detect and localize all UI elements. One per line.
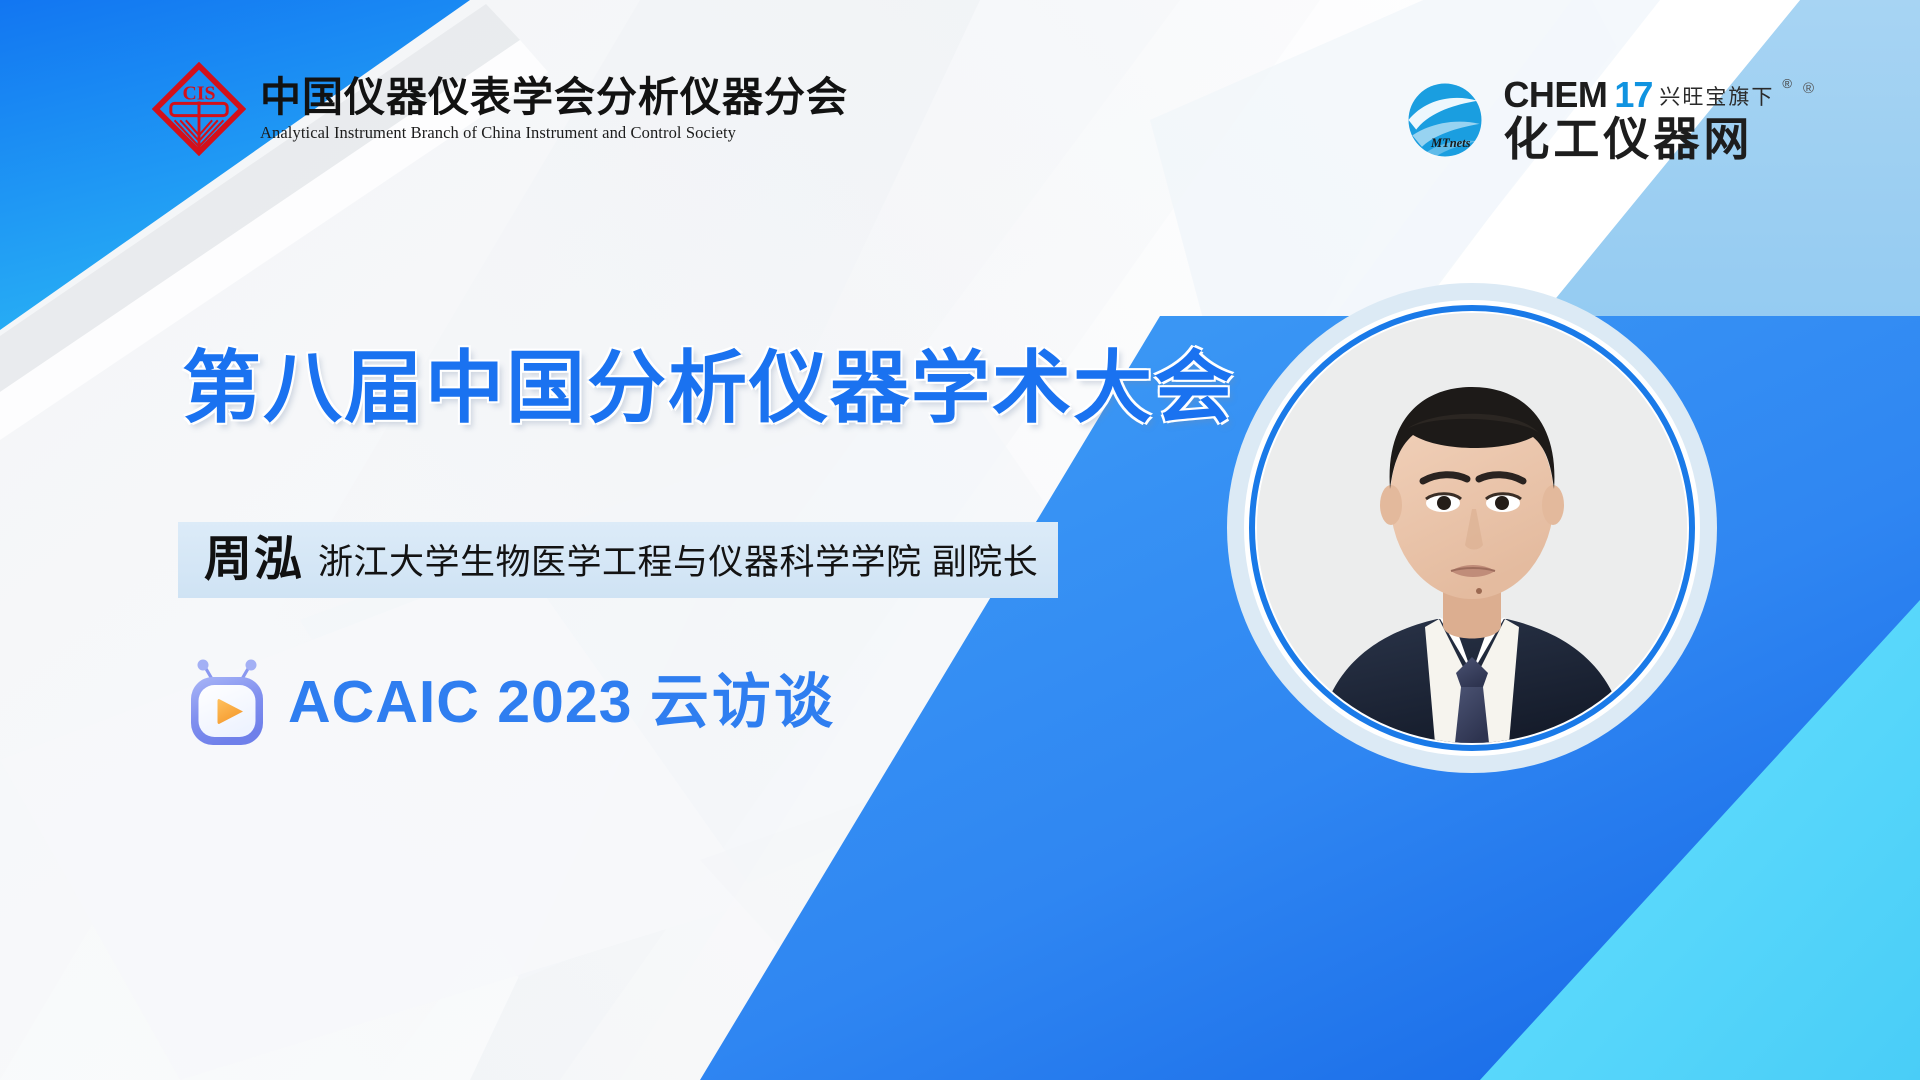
chem17-logo: MTnets CHEM 17 兴旺宝旗下 ® 化工仪器网 ® — [1397, 72, 1792, 168]
registered-mark-outer-icon: ® — [1803, 80, 1814, 97]
cis-logo-text: 中国仪器仪表学会分析仪器分会 Analytical Instrument Bra… — [260, 75, 848, 143]
cis-name-cn: 中国仪器仪表学会分析仪器分会 — [260, 75, 848, 120]
mtnets-label: MTnets — [1430, 136, 1471, 150]
program-code-cn: 云访谈 — [650, 669, 836, 735]
cis-diamond-icon: CIS — [152, 62, 246, 156]
chem17-brand-sub: 兴旺宝旗下 — [1659, 84, 1774, 113]
program-label: ACAIC 2023 云访谈 — [288, 673, 836, 732]
cis-logo: CIS 中国仪器仪表学会分析仪器分会 Analytical Instrument… — [152, 62, 848, 156]
speaker-name-badge: 周泓 浙江大学生物医学工程与仪器科学学院 副院长 — [178, 522, 1058, 598]
speaker-portrait — [1227, 283, 1717, 773]
chem17-brand-row: CHEM 17 兴旺宝旗下 ® — [1503, 77, 1792, 113]
chem17-brand-cn: 化工仪器网 — [1503, 115, 1792, 163]
chem17-logo-text: CHEM 17 兴旺宝旗下 ® 化工仪器网 — [1503, 77, 1792, 163]
mtnets-globe-icon: MTnets — [1397, 72, 1493, 168]
portrait-photo — [1257, 313, 1687, 743]
cis-name-en: Analytical Instrument Branch of China In… — [260, 123, 848, 143]
chem17-brand-number: 17 — [1614, 77, 1652, 113]
banner-stage: CIS 中国仪器仪表学会分析仪器分会 Analytical Instrument… — [0, 0, 1920, 1080]
program-code: ACAIC 2023 — [288, 669, 650, 735]
registered-mark-icon: ® — [1782, 77, 1792, 90]
speaker-name: 周泓 — [204, 536, 304, 584]
page-title: 第八届中国分析仪器学术大会 — [182, 345, 1235, 430]
tv-play-icon — [186, 655, 268, 749]
program-info: ACAIC 2023 云访谈 — [186, 655, 836, 749]
svg-text:CIS: CIS — [183, 83, 216, 105]
chem17-brand-word: CHEM — [1503, 77, 1607, 113]
portrait-illustration — [1257, 313, 1687, 743]
speaker-title: 浙江大学生物医学工程与仪器科学学院 副院长 — [318, 545, 1038, 580]
speaker-info: 周泓 浙江大学生物医学工程与仪器科学学院 副院长 — [186, 522, 1058, 598]
